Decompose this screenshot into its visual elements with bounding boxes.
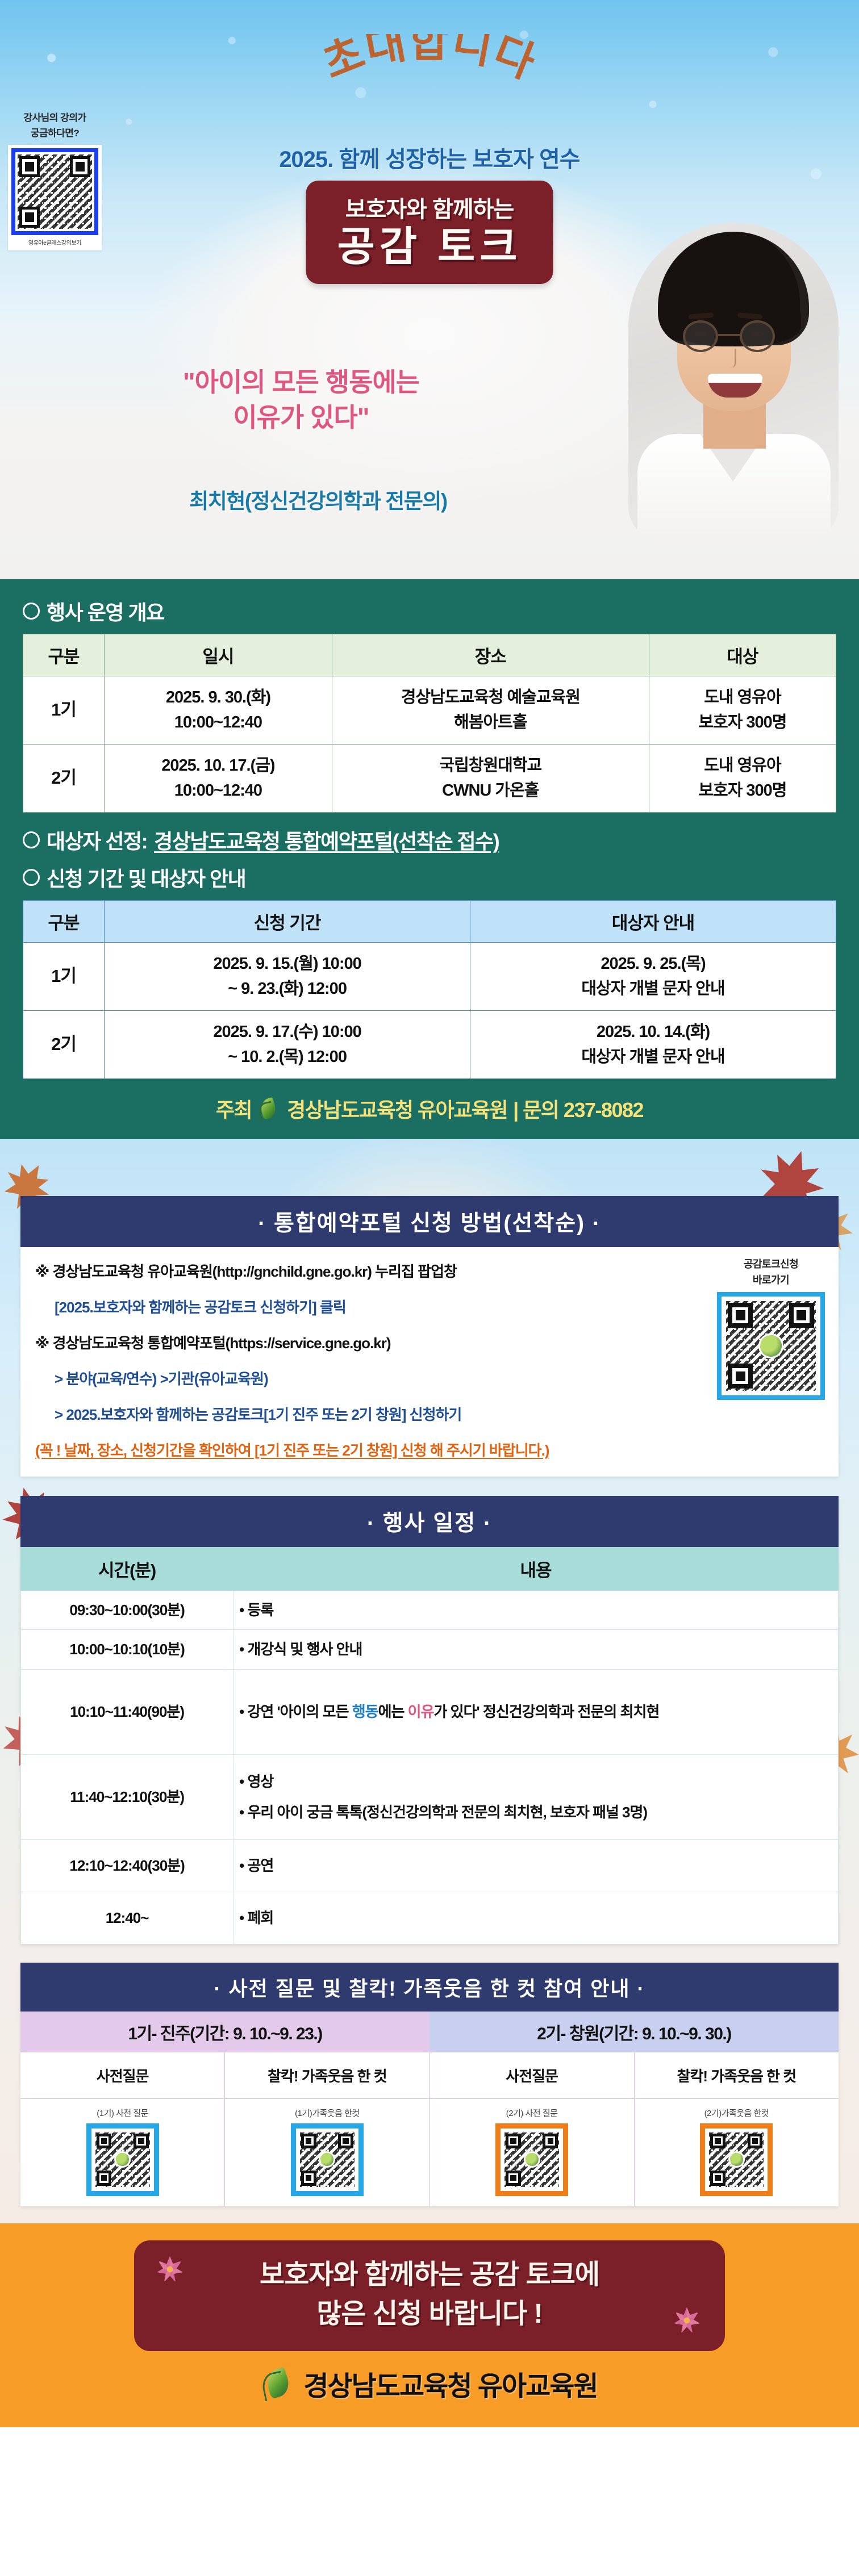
overview-row0-datetime: 2025. 9. 30.(화) 10:00~12:40 — [105, 676, 332, 745]
table-row: 12:10~12:40(30분) • 공연 — [21, 1839, 839, 1892]
participate-panel: · 사전 질문 및 찰칵! 가족웃음 한 컷 참여 안내 · 1기- 진주(기간… — [20, 1963, 839, 2206]
overview-row1-datetime: 2025. 10. 17.(금) 10:00~12:40 — [105, 745, 332, 813]
schedule-row1-desc: • 개강식 및 행사 안내 — [233, 1630, 839, 1669]
lecture-qr-caption-line1: 강사님의 강의가 — [8, 111, 102, 126]
title-plate-top: 보호자와 함께하는 — [312, 191, 548, 224]
period-table: 구분 신청 기간 대상자 안내 1기 2025. 9. 15.(월) 10:00… — [23, 900, 836, 1079]
schedule-row3-desc-line1: • 영상 — [239, 1770, 832, 1793]
footer-section: 보호자와 함께하는 공감 토크에 많은 신청 바랍니다 ! 경상남도교육청 유아… — [0, 2223, 859, 2427]
period-row0-id: 1기 — [23, 943, 105, 1011]
period-row1-notice-line1: 2025. 10. 14.(화) — [474, 1020, 832, 1045]
title-plate-main: 공감 토크 — [312, 226, 548, 269]
apply-line-2[interactable]: [2025.보호자와 함께하는 공감토크 신청하기] 클릭 — [55, 1297, 719, 1319]
schedule-row0-time: 09:30~10:00(30분) — [21, 1591, 233, 1630]
period-row1-id: 2기 — [23, 1011, 105, 1079]
schedule-row2-highlight-2: 이유 — [408, 1703, 434, 1720]
table-row: 11:40~12:10(30분) • 영상 • 우리 아이 궁금 톡톡(정신건강… — [21, 1754, 839, 1839]
participate-col3-tag: (2기)가족웃음 한컷 — [639, 2107, 834, 2119]
overview-col-2: 장소 — [332, 634, 649, 676]
period-row0-notice: 2025. 9. 25.(목) 대상자 개별 문자 안내 — [470, 943, 836, 1011]
overview-col-0: 구분 — [23, 634, 105, 676]
selection-prefix: 대상자 선정: — [47, 825, 147, 855]
overview-row1-date: 2025. 10. 17.(금) — [108, 754, 328, 779]
participate-col3-qr-frame[interactable] — [700, 2123, 773, 2196]
footer-logo-text: 경상남도교육청 유아교육원 — [303, 2364, 597, 2403]
participate-panel-title: · 사전 질문 및 찰칵! 가족웃음 한 컷 참여 안내 · — [20, 1963, 839, 2012]
schedule-row3-desc-line2: • 우리 아이 궁금 톡톡(정신건강의학과 전문의 최치현, 보호자 패널 3명… — [239, 1801, 832, 1824]
period-col-0: 구분 — [23, 901, 105, 943]
hero-subtitle: 2025. 함께 성장하는 보호자 연수 — [0, 141, 859, 174]
table-row: 10:10~11:40(90분) • 강연 '아이의 모든 행동에는 이유가 있… — [21, 1669, 839, 1754]
participate-col1-tag: (1기)가족웃음 한컷 — [230, 2107, 424, 2119]
host-organization: 경상남도교육청 유아교육원 — [287, 1094, 507, 1123]
apply-line-5[interactable]: > 2025.보호자와 함께하는 공감토크[1기 진주 또는 2기 창원] 신청… — [55, 1404, 824, 1426]
overview-row1-target-line2: 보호자 300명 — [653, 779, 832, 804]
period-col-1: 신청 기간 — [105, 901, 470, 943]
apply-line-4: > 분야(교육/연수) >기관(유아교육원) — [55, 1368, 719, 1390]
leaf-logo-icon — [261, 2365, 297, 2402]
apply-qr-frame[interactable] — [717, 1292, 825, 1400]
schedule-row2-desc: • 강연 '아이의 모든 행동에는 이유가 있다' 정신건강의학과 전문의 최치… — [233, 1669, 839, 1754]
schedule-row5-desc: • 폐회 — [233, 1892, 839, 1944]
apply-line-6: (꼭 ! 날짜, 장소, 신청기간을 확인하여 [1기 진주 또는 2기 창원]… — [35, 1440, 824, 1462]
overview-row0-target: 도내 영유아 보호자 300명 — [649, 676, 836, 745]
overview-row1-place-line2: CWNU 가온홀 — [336, 779, 645, 804]
participate-col0-title: 사전질문 — [20, 2052, 225, 2099]
qr-code-lecture[interactable] — [18, 154, 92, 229]
overview-row1-target: 도내 영유아 보호자 300명 — [649, 745, 836, 813]
overview-row1-target-line1: 도내 영유아 — [653, 754, 832, 779]
schedule-row1-time: 10:00~10:10(10분) — [21, 1630, 233, 1669]
bullet-ring-icon — [23, 831, 40, 848]
bullet-ring-icon — [23, 603, 40, 620]
table-row: 2기 2025. 9. 17.(수) 10:00 ~ 10. 2.(목) 12:… — [23, 1011, 836, 1079]
schedule-panel-title: · 행사 일정 · — [20, 1496, 839, 1547]
cta-plate: 보호자와 함께하는 공감 토크에 많은 신청 바랍니다 ! — [134, 2240, 725, 2351]
apply-line-1: ※ 경상남도교육청 유아교육원(http://gnchild.gne.go.kr… — [35, 1261, 700, 1283]
apply-qr-caption-line2: 바로가기 — [717, 1273, 825, 1287]
cta-line-1: 보호자와 함께하는 공감 토크에 — [191, 2255, 668, 2295]
overview-row1-time: 10:00~12:40 — [108, 779, 328, 804]
participate-col3-qr-cell[interactable]: (2기)가족웃음 한컷 — [635, 2099, 839, 2206]
overview-row0-time: 10:00~12:40 — [108, 710, 328, 735]
flower-icon — [157, 2256, 183, 2282]
selection-heading: 대상자 선정: 경상남도교육청 통합예약포털(선착순 접수) — [23, 825, 836, 855]
qr-center-logo-icon — [526, 2153, 539, 2166]
overview-col-1: 일시 — [105, 634, 332, 676]
overview-row0-target-line2: 보호자 300명 — [653, 710, 832, 735]
participate-col2-qr-frame[interactable] — [495, 2123, 568, 2196]
table-row: 1기 2025. 9. 30.(화) 10:00~12:40 경상남도교육청 예… — [23, 676, 836, 745]
qr-code-group2-question[interactable] — [504, 2132, 559, 2187]
selection-portal-link[interactable]: 경상남도교육청 통합예약포털(선착순 접수) — [154, 825, 499, 855]
lecture-qr-frame[interactable] — [11, 148, 98, 235]
schedule-row2-pre: • 강연 '아이의 모든 — [239, 1703, 352, 1720]
overview-row0-place: 경상남도교육청 예술교육원 해봄아트홀 — [332, 676, 649, 745]
participate-col1-qr-frame[interactable] — [291, 2123, 364, 2196]
period-table-header-row: 구분 신청 기간 대상자 안내 — [23, 901, 836, 943]
qr-center-logo-icon — [730, 2153, 743, 2166]
lecture-qr-label: 영유아e클래스강의보기 — [11, 235, 98, 248]
hero-quote-line2: 이유가 있다" — [0, 400, 602, 435]
apply-panel: · 통합예약포털 신청 방법(선착순) · 공감토크신청 바로가기 ※ 경상남도… — [20, 1196, 839, 1477]
participate-group2-header: 2기- 창원(기간: 9. 10.~9. 30.) — [429, 2012, 839, 2052]
schedule-table: 시간(분) 내용 09:30~10:00(30분) • 등록 10:00~10:… — [20, 1547, 839, 1944]
overview-heading-text: 행사 운영 개요 — [47, 596, 164, 626]
overview-table-header-row: 구분 일시 장소 대상 — [23, 634, 836, 676]
lecture-qr-card[interactable]: 영유아e클래스강의보기 — [8, 145, 102, 250]
schedule-row4-time: 12:10~12:40(30분) — [21, 1839, 233, 1892]
overview-row0-id: 1기 — [23, 676, 105, 745]
apply-section: · 통합예약포털 신청 방법(선착순) · 공감토크신청 바로가기 ※ 경상남도… — [0, 1139, 859, 2223]
flower-icon — [674, 2307, 700, 2334]
speaker-portrait — [628, 223, 839, 541]
schedule-col-0: 시간(분) — [21, 1548, 233, 1591]
lecture-qr-caption-line2: 궁금하다면? — [8, 127, 102, 141]
participate-subtitles: 사전질문 찰칵! 가족웃음 한 컷 사전질문 찰칵! 가족웃음 한 컷 — [20, 2052, 839, 2099]
participate-group1-header: 1기- 진주(기간: 9. 10.~9. 23.) — [20, 2012, 429, 2052]
qr-code-group2-photo[interactable] — [709, 2132, 764, 2187]
table-row: 2기 2025. 10. 17.(금) 10:00~12:40 국립창원대학교 … — [23, 745, 836, 813]
period-row0-notice-line1: 2025. 9. 25.(목) — [474, 952, 832, 977]
overview-row0-date: 2025. 9. 30.(화) — [108, 685, 328, 710]
participate-col0-qr-cell[interactable]: (1기) 사전 질문 — [20, 2099, 225, 2206]
schedule-col-1: 내용 — [233, 1548, 839, 1591]
hero-quote: "아이의 모든 행동에는 이유가 있다" — [0, 365, 602, 435]
overview-row1-place-line1: 국립창원대학교 — [336, 754, 645, 779]
period-heading: 신청 기간 및 대상자 안내 — [23, 863, 836, 892]
overview-row0-target-line1: 도내 영유아 — [653, 685, 832, 710]
participate-qr-row: (1기) 사전 질문 (1기)가족웃음 한컷 ( — [20, 2099, 839, 2206]
participate-col2-qr-cell[interactable]: (2기) 사전 질문 — [430, 2099, 635, 2206]
apply-panel-title: · 통합예약포털 신청 방법(선착순) · — [20, 1196, 839, 1247]
schedule-row3-desc: • 영상 • 우리 아이 궁금 톡톡(정신건강의학과 전문의 최치현, 보호자 … — [233, 1754, 839, 1839]
period-row1-notice-line2: 대상자 개별 문자 안내 — [474, 1045, 832, 1070]
participate-col0-qr-frame[interactable] — [86, 2123, 159, 2196]
qr-code-group1-question[interactable] — [95, 2132, 150, 2187]
table-row: 12:40~ • 폐회 — [21, 1892, 839, 1944]
schedule-row2-mid: 에는 — [378, 1703, 408, 1720]
hero-quote-line1: "아이의 모든 행동에는 — [0, 365, 602, 400]
overview-row1-place: 국립창원대학교 CWNU 가온홀 — [332, 745, 649, 813]
host-label: 주최 — [216, 1094, 252, 1123]
participate-col2-title: 사전질문 — [430, 2052, 635, 2099]
overview-row0-place-line1: 경상남도교육청 예술교육원 — [336, 685, 645, 710]
schedule-row3-time: 11:40~12:10(30분) — [21, 1754, 233, 1839]
hero-section: 초대합니다 2025. 함께 성장하는 보호자 연수 보호자와 함께하는 공감 … — [0, 0, 859, 579]
footer-logo: 경상남도교육청 유아교육원 — [0, 2364, 859, 2403]
leaf-logo-icon — [257, 1097, 281, 1120]
schedule-row5-time: 12:40~ — [21, 1892, 233, 1944]
period-row0-apply-line2: ~ 9. 23.(화) 12:00 — [108, 977, 466, 1002]
period-row1-apply-line2: ~ 10. 2.(목) 12:00 — [108, 1045, 466, 1070]
overview-table: 구분 일시 장소 대상 1기 2025. 9. 30.(화) 10:00~12:… — [23, 634, 836, 813]
qr-center-logo-icon — [760, 1335, 782, 1357]
hero-speaker: 최치현(정신건강의학과 전문의) — [0, 484, 636, 515]
period-row0-apply: 2025. 9. 15.(월) 10:00 ~ 9. 23.(화) 12:00 — [105, 943, 470, 1011]
schedule-row4-desc: • 공연 — [233, 1839, 839, 1892]
schedule-row2-time: 10:10~11:40(90분) — [21, 1669, 233, 1754]
schedule-row0-desc: • 등록 — [233, 1591, 839, 1630]
participate-col0-tag: (1기) 사전 질문 — [25, 2107, 220, 2119]
overview-row1-id: 2기 — [23, 745, 105, 813]
participate-col1-title: 찰칵! 가족웃음 한 컷 — [225, 2052, 429, 2099]
overview-col-3: 대상 — [649, 634, 836, 676]
schedule-row2-post: 가 있다' 정신건강의학과 전문의 최치현 — [434, 1703, 660, 1720]
period-row1-notice: 2025. 10. 14.(화) 대상자 개별 문자 안내 — [470, 1011, 836, 1079]
title-plate: 보호자와 함께하는 공감 토크 — [306, 181, 553, 284]
participate-col1-qr-cell[interactable]: (1기)가족웃음 한컷 — [225, 2099, 429, 2206]
participate-col2-tag: (2기) 사전 질문 — [435, 2107, 629, 2119]
qr-code-group1-photo[interactable] — [300, 2132, 355, 2187]
apply-line-3: ※ 경상남도교육청 통합예약포털(https://service.gne.go.… — [35, 1332, 700, 1354]
period-row0-notice-line2: 대상자 개별 문자 안내 — [474, 977, 832, 1002]
invite-arc-text: 초대합니다 — [316, 34, 543, 88]
overview-heading: 행사 운영 개요 — [23, 596, 836, 626]
schedule-header-row: 시간(분) 내용 — [21, 1548, 839, 1591]
qr-code-apply[interactable] — [726, 1301, 816, 1391]
schedule-row2-highlight-1: 행동 — [352, 1703, 378, 1720]
table-row: 1기 2025. 9. 15.(월) 10:00 ~ 9. 23.(화) 12:… — [23, 943, 836, 1011]
table-row: 10:00~10:10(10분) • 개강식 및 행사 안내 — [21, 1630, 839, 1669]
apply-qr-caption-line1: 공감토크신청 — [717, 1257, 825, 1271]
host-line: 주최 경상남도교육청 유아교육원 | 문의 237-8082 — [23, 1094, 836, 1123]
period-col-2: 대상자 안내 — [470, 901, 836, 943]
cta-line-2: 많은 신청 바랍니다 ! — [191, 2294, 668, 2334]
period-heading-text: 신청 기간 및 대상자 안내 — [47, 863, 245, 892]
period-row1-apply-line1: 2025. 9. 17.(수) 10:00 — [108, 1020, 466, 1045]
apply-panel-body: 공감토크신청 바로가기 ※ 경상남도교육청 유아교육원(http://gnchi… — [20, 1247, 839, 1477]
period-row1-apply: 2025. 9. 17.(수) 10:00 ~ 10. 2.(목) 12:00 — [105, 1011, 470, 1079]
info-section: 행사 운영 개요 구분 일시 장소 대상 1기 2025. 9. 30.(화) … — [0, 579, 859, 1139]
overview-row0-place-line2: 해봄아트홀 — [336, 710, 645, 735]
participate-group-headers: 1기- 진주(기간: 9. 10.~9. 23.) 2기- 창원(기간: 9. … — [20, 2012, 839, 2052]
lecture-qr-block[interactable]: 강사님의 강의가 궁금하다면? 영유아e클래스강의보기 — [8, 111, 102, 250]
bullet-ring-icon — [23, 869, 40, 886]
schedule-panel: · 행사 일정 · 시간(분) 내용 09:30~10:00(30분) • 등록… — [20, 1496, 839, 1944]
apply-qr-block[interactable]: 공감토크신청 바로가기 — [717, 1257, 825, 1400]
period-row0-apply-line1: 2025. 9. 15.(월) 10:00 — [108, 952, 466, 977]
table-row: 09:30~10:00(30분) • 등록 — [21, 1591, 839, 1630]
host-contact: | 문의 237-8082 — [513, 1094, 643, 1123]
participate-col3-title: 찰칵! 가족웃음 한 컷 — [635, 2052, 839, 2099]
